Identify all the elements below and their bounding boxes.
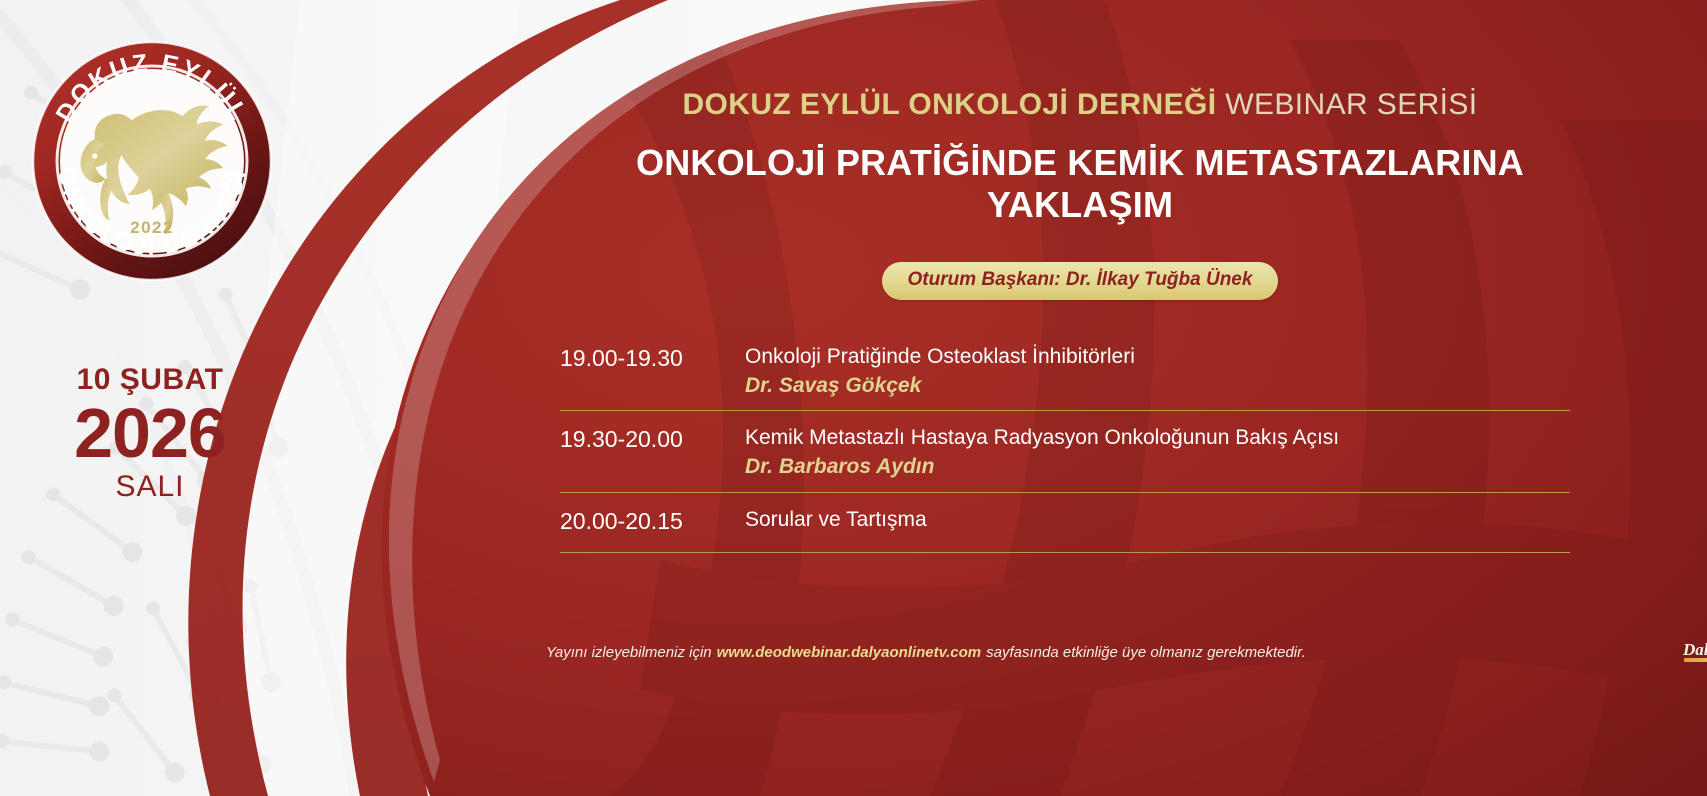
event-date-day: 10 ŞUBAT [0, 364, 300, 396]
association-logo: DOKUZ EYLÜL ONKOLOJİ DERNEĞİ 2022 [28, 37, 276, 285]
footer-suffix: sayfasında etkinliğe üye olmanız gerekme… [986, 644, 1306, 661]
event-date-weekday: SALI [0, 470, 300, 503]
logo-year: 2022 [130, 218, 173, 237]
schedule-table: 19.00-19.30 Onkoloji Pratiğinde Osteokla… [560, 330, 1570, 553]
schedule-topic: Kemik Metastazlı Hastaya Radyasyon Onkol… [745, 424, 1570, 452]
schedule-speaker: Dr. Barbaros Aydın [745, 453, 1570, 481]
schedule-row: 19.00-19.30 Onkoloji Pratiğinde Osteokla… [560, 330, 1570, 411]
footer-prefix: Yayını izleyebilmeniz için [546, 644, 712, 661]
session-chair-row: Oturum Başkanı: Dr. İlkay Tuğba Ünek [550, 262, 1610, 300]
session-chair-badge: Oturum Başkanı: Dr. İlkay Tuğba Ünek [882, 262, 1279, 300]
schedule-time: 19.00-19.30 [560, 343, 745, 373]
schedule-topic: Onkoloji Pratiğinde Osteoklast İnhibitör… [745, 343, 1570, 371]
schedule-speaker: Dr. Savaş Gökçek [745, 372, 1570, 400]
event-date-block: 10 ŞUBAT 2026 SALI [0, 364, 300, 503]
schedule-details: Onkoloji Pratiğinde Osteoklast İnhibitör… [745, 343, 1570, 399]
schedule-details: Kemik Metastazlı Hastaya Radyasyon Onkol… [745, 424, 1570, 480]
page-title: ONKOLOJİ PRATİĞİNDE KEMİK METASTAZLARINA… [550, 142, 1610, 227]
poster-content: DOKUZ EYLÜL ONKOLOJİ DERNEĞİ WEBINAR SER… [530, 0, 1707, 796]
dalya-sponsor-logo: Dalya [1682, 638, 1707, 672]
schedule-row: 20.00-20.15 Sorular ve Tartışma [560, 493, 1570, 553]
footer-url[interactable]: www.deodwebinar.dalyaonlinetv.com [712, 644, 987, 661]
kicker-series: WEBINAR SERİSİ [1225, 88, 1477, 121]
poster-canvas: DOKUZ EYLÜL ONKOLOJİ DERNEĞİ 2022 1 [0, 0, 1707, 796]
dalya-wordmark: Dalya [1682, 640, 1707, 659]
schedule-time: 19.30-20.00 [560, 424, 745, 454]
schedule-details: Sorular ve Tartışma [745, 506, 1570, 534]
schedule-topic: Sorular ve Tartışma [745, 506, 1570, 534]
schedule-row: 19.30-20.00 Kemik Metastazlı Hastaya Rad… [560, 411, 1570, 492]
schedule-time: 20.00-20.15 [560, 506, 745, 536]
event-date-year: 2026 [0, 398, 300, 468]
series-kicker: DOKUZ EYLÜL ONKOLOJİ DERNEĞİ WEBINAR SER… [530, 88, 1630, 122]
footer-note: Yayını izleyebilmeniz için www.deodwebin… [546, 644, 1606, 661]
kicker-organization: DOKUZ EYLÜL ONKOLOJİ DERNEĞİ [682, 88, 1216, 121]
